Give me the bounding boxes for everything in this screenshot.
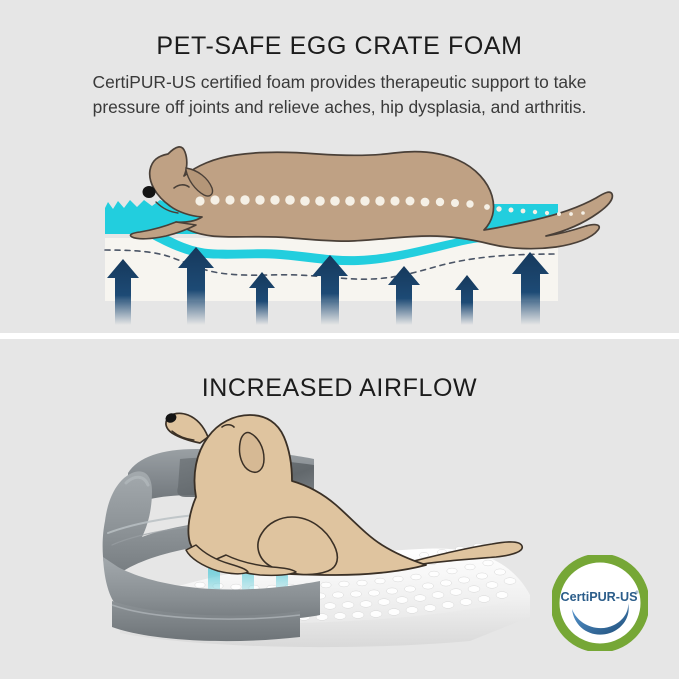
section-increased-airflow: INCREASED AIRFLOW xyxy=(0,339,679,679)
dog-figure-bottom xyxy=(164,412,522,576)
description-line-2: pressure off joints and relieve aches, h… xyxy=(0,95,679,120)
certipur-us-badge: CONTAINS CERTIFIED FLEXIBLE POLYURETHANE… xyxy=(552,555,648,651)
page-title-increased-airflow: INCREASED AIRFLOW xyxy=(0,374,679,403)
description-line-1: CertiPUR-US certified foam provides ther… xyxy=(0,70,679,95)
page-title-egg-crate-foam: PET-SAFE EGG CRATE FOAM xyxy=(0,32,679,61)
badge-center-text: CertiPUR-US xyxy=(561,590,638,604)
illustration-dog-on-foam-cross-section xyxy=(0,130,679,325)
description-egg-crate-foam: CertiPUR-US certified foam provides ther… xyxy=(0,70,679,120)
section-pet-safe-egg-crate-foam: PET-SAFE EGG CRATE FOAM CertiPUR-US cert… xyxy=(0,0,679,333)
dog-figure-top xyxy=(130,147,612,249)
